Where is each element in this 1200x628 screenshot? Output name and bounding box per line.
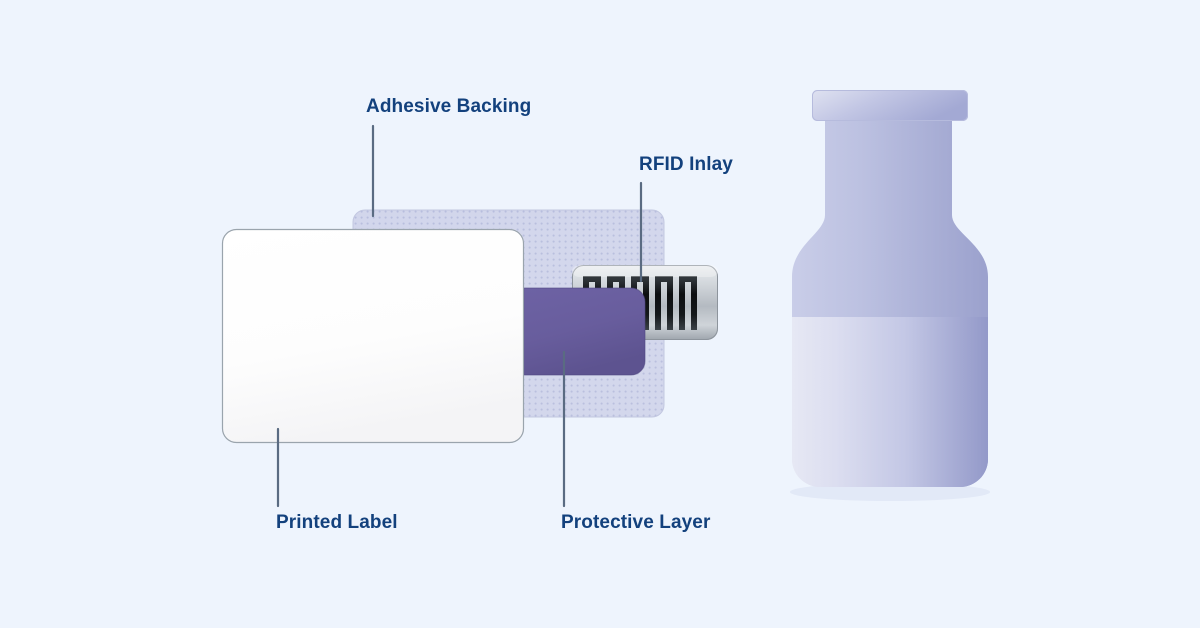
callout-label-rfid-inlay: RFID Inlay <box>639 154 733 176</box>
callout-label-printed-label: Printed Label <box>276 512 398 534</box>
layer-protective-layer <box>524 288 645 375</box>
callout-label-protective-layer: Protective Layer <box>561 512 710 534</box>
callout-label-adhesive-backing: Adhesive Backing <box>366 96 531 118</box>
vial-illustration <box>790 90 990 501</box>
diagram-canvas: Adhesive Backing RFID Inlay Printed Labe… <box>0 0 1200 628</box>
layer-printed-label <box>222 229 524 443</box>
